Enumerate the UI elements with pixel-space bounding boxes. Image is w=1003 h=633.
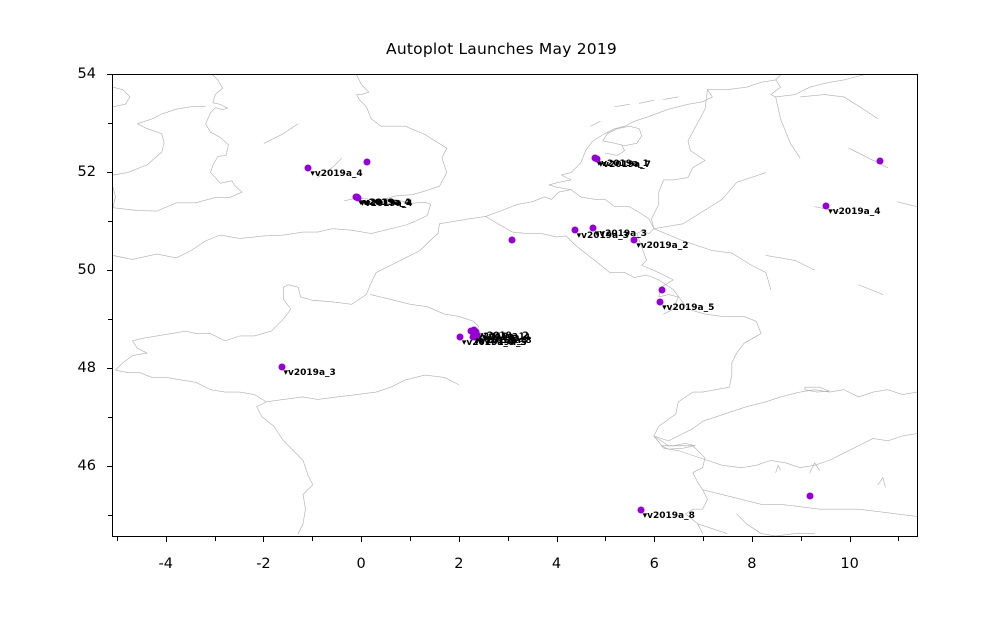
data-point-label: ▾v2019a_8: [643, 512, 695, 521]
y-axis-tick-label: 54: [0, 66, 96, 82]
data-point-label: ▾v2019a_7: [599, 161, 651, 170]
y-axis-minor-tick: [108, 123, 112, 124]
chart-title: Autoplot Launches May 2019: [0, 40, 1003, 58]
data-point-marker: [508, 237, 515, 244]
y-axis-tick: [107, 270, 112, 271]
x-axis-tick: [166, 537, 167, 542]
x-axis-minor-tick: [410, 537, 411, 541]
x-axis-tick-label: 6: [650, 556, 659, 572]
x-axis-tick-label: -2: [256, 556, 270, 572]
x-axis-tick: [654, 537, 655, 542]
y-axis-minor-tick: [108, 319, 112, 320]
x-axis-minor-tick: [312, 537, 313, 541]
x-axis-tick: [459, 537, 460, 542]
x-axis-minor-tick: [703, 537, 704, 541]
y-axis-tick: [107, 368, 112, 369]
data-point-label: ▾v2019a_5: [662, 304, 714, 313]
data-point-label: ▾v2019a_3: [595, 230, 647, 239]
x-axis-tick-label: 8: [747, 556, 756, 572]
x-axis-tick: [263, 537, 264, 542]
x-axis-tick-label: -4: [158, 556, 172, 572]
data-point-marker: [876, 157, 883, 164]
data-point-marker: [364, 159, 371, 166]
x-axis-tick-label: 0: [357, 556, 366, 572]
data-point-label: ▾v2019a_5: [475, 339, 527, 348]
x-axis-tick: [361, 537, 362, 542]
basemap-coastlines: [113, 75, 917, 536]
y-axis-tick-label: 50: [0, 262, 96, 278]
x-axis-tick: [557, 537, 558, 542]
data-point-label: ▾v2019a_2: [636, 242, 688, 251]
data-point-marker: [807, 493, 814, 500]
x-axis-minor-tick: [215, 537, 216, 541]
data-point-label: ▾v2019a_4: [310, 170, 362, 179]
data-point-marker: [658, 287, 665, 294]
y-axis-tick: [107, 74, 112, 75]
y-axis-tick: [107, 466, 112, 467]
x-axis-tick-label: 4: [552, 556, 561, 572]
x-axis-minor-tick: [801, 537, 802, 541]
x-axis-tick-label: 10: [840, 556, 858, 572]
x-axis-minor-tick: [898, 537, 899, 541]
y-axis-minor-tick: [108, 221, 112, 222]
y-axis-tick: [107, 172, 112, 173]
data-point-label: ▾v2019a_4: [360, 200, 412, 209]
data-point-label: ▾v2019a_4: [828, 208, 880, 217]
x-axis-minor-tick: [117, 537, 118, 541]
figure-canvas: Autoplot Launches May 2019: [0, 0, 1003, 633]
y-axis-minor-tick: [108, 515, 112, 516]
data-point-label: ▾v2019a_3: [284, 369, 336, 378]
x-axis-tick-label: 2: [454, 556, 463, 572]
y-axis-tick-label: 48: [0, 360, 96, 376]
x-axis-minor-tick: [508, 537, 509, 541]
x-axis-tick: [850, 537, 851, 542]
y-axis-tick-label: 52: [0, 164, 96, 180]
x-axis-minor-tick: [605, 537, 606, 541]
y-axis-minor-tick: [108, 417, 112, 418]
y-axis-tick-label: 46: [0, 458, 96, 474]
plot-area: ▾v2019a_4▾v2019a_4▾v2019a_1▾v2019a_4▾v20…: [112, 74, 918, 537]
x-axis-tick: [752, 537, 753, 542]
